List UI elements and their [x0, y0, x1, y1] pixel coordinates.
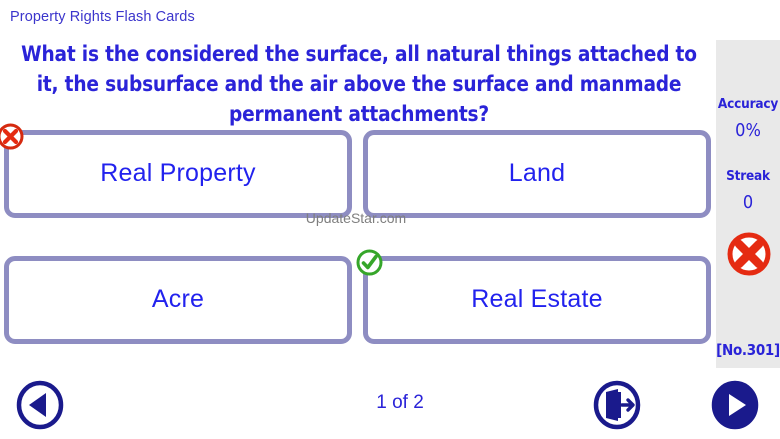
answer-label-2: Land [509, 159, 565, 188]
answer-card-1[interactable]: Real Property [4, 130, 352, 218]
correct-marker-icon [355, 248, 384, 277]
streak-label: Streak [716, 168, 780, 184]
answer-card-3[interactable]: Acre [4, 256, 352, 344]
red-x-icon [725, 230, 773, 278]
question-text: What is the considered the surface, all … [20, 40, 698, 130]
exit-door-icon[interactable] [592, 379, 642, 431]
page-indicator: 1 of 2 [310, 392, 490, 414]
answer-label-4: Real Estate [471, 285, 602, 314]
answer-label-1: Real Property [100, 159, 255, 188]
previous-arrow-icon[interactable] [15, 379, 65, 431]
streak-value: 0 [716, 192, 780, 213]
next-arrow-icon[interactable] [710, 379, 760, 431]
card-number: [No.301] [716, 341, 780, 359]
stats-sidebar: Accuracy 0% Streak 0 [No.301] [716, 40, 780, 368]
watermark: UpdateStar.com [0, 210, 712, 226]
answer-card-4[interactable]: Real Estate [363, 256, 711, 344]
bottom-nav-bar: 1 of 2 [0, 372, 780, 439]
accuracy-label: Accuracy [716, 96, 780, 112]
answer-card-2[interactable]: Land [363, 130, 711, 218]
accuracy-value: 0% [716, 120, 780, 141]
app-title: Property Rights Flash Cards [10, 9, 195, 25]
answer-label-3: Acre [152, 285, 204, 314]
answer-grid: Real Property Land Acre Real Estate [4, 130, 711, 362]
